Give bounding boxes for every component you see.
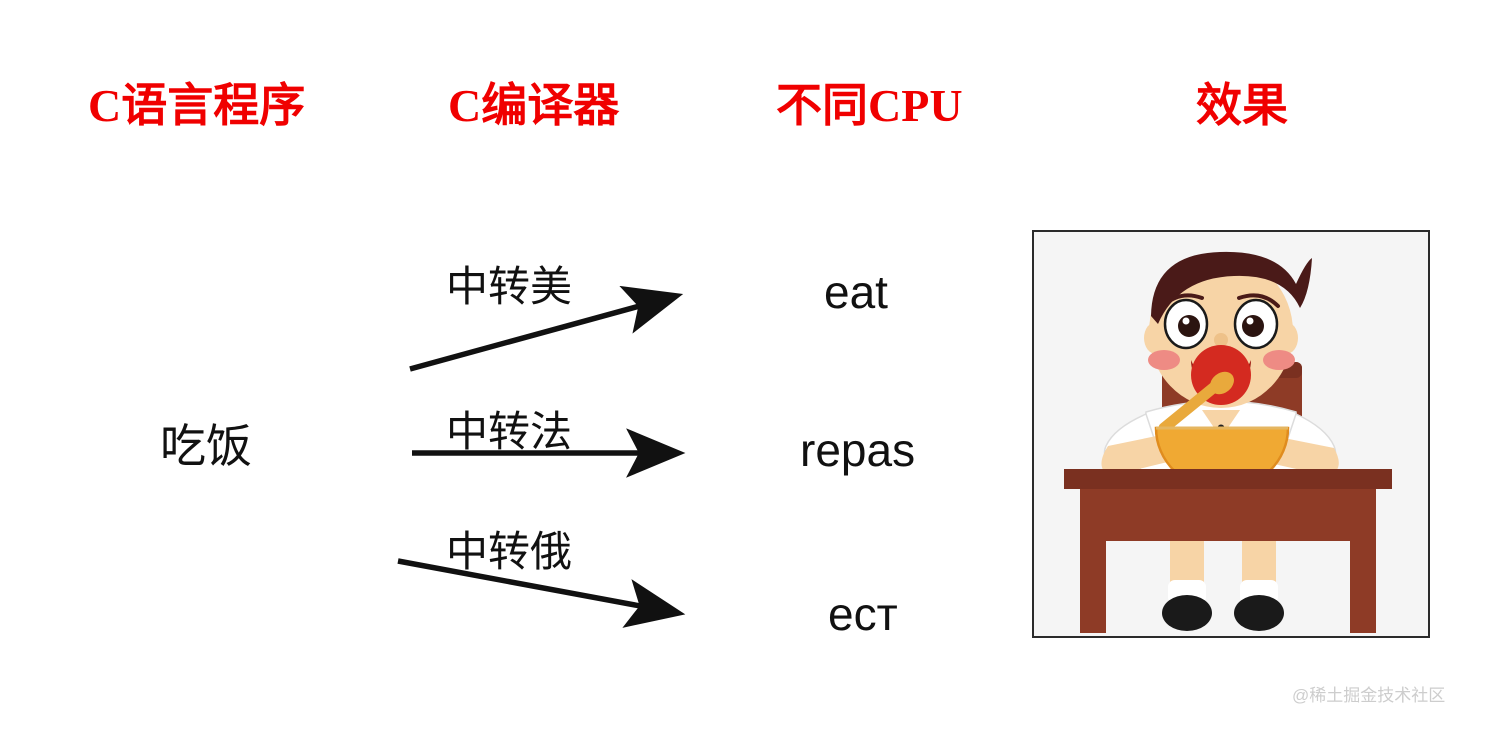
desk-apron — [1080, 489, 1376, 541]
pupil-right — [1242, 315, 1264, 337]
desk-leg-left — [1080, 541, 1106, 633]
eye-highlight-right — [1247, 318, 1254, 325]
shoe-right — [1234, 595, 1284, 631]
column-header-effect: 效果 — [1196, 83, 1288, 129]
target-word-russian: ест — [828, 587, 898, 641]
shoe-left — [1162, 595, 1212, 631]
desk-top — [1064, 469, 1392, 489]
eye-highlight-left — [1183, 318, 1190, 325]
watermark: @稀土掘金技术社区 — [1292, 681, 1445, 706]
pupil-left — [1178, 315, 1200, 337]
illustration-boy-eating — [1032, 230, 1430, 638]
boy-eating-artwork — [1034, 232, 1428, 636]
cheek-left — [1148, 350, 1180, 370]
source-term: 吃饭 — [160, 410, 252, 476]
column-header-source: C语言程序 — [88, 83, 305, 129]
arrow-label-english: 中转美 — [446, 253, 572, 314]
cheek-right — [1263, 350, 1295, 370]
nose — [1214, 333, 1228, 347]
desk-leg-right — [1350, 541, 1376, 633]
column-header-compiler: C编译器 — [448, 83, 619, 129]
target-word-french: repas — [800, 423, 915, 477]
column-header-cpu: 不同CPU — [776, 83, 963, 129]
arrow-label-french: 中转法 — [446, 398, 572, 459]
arrow-label-russian: 中转俄 — [446, 518, 572, 579]
target-word-english: eat — [824, 265, 888, 319]
diagram-canvas: C语言程序 C编译器 不同CPU 效果 吃饭 中转美 中转法 中转俄 eat r… — [0, 0, 1512, 731]
